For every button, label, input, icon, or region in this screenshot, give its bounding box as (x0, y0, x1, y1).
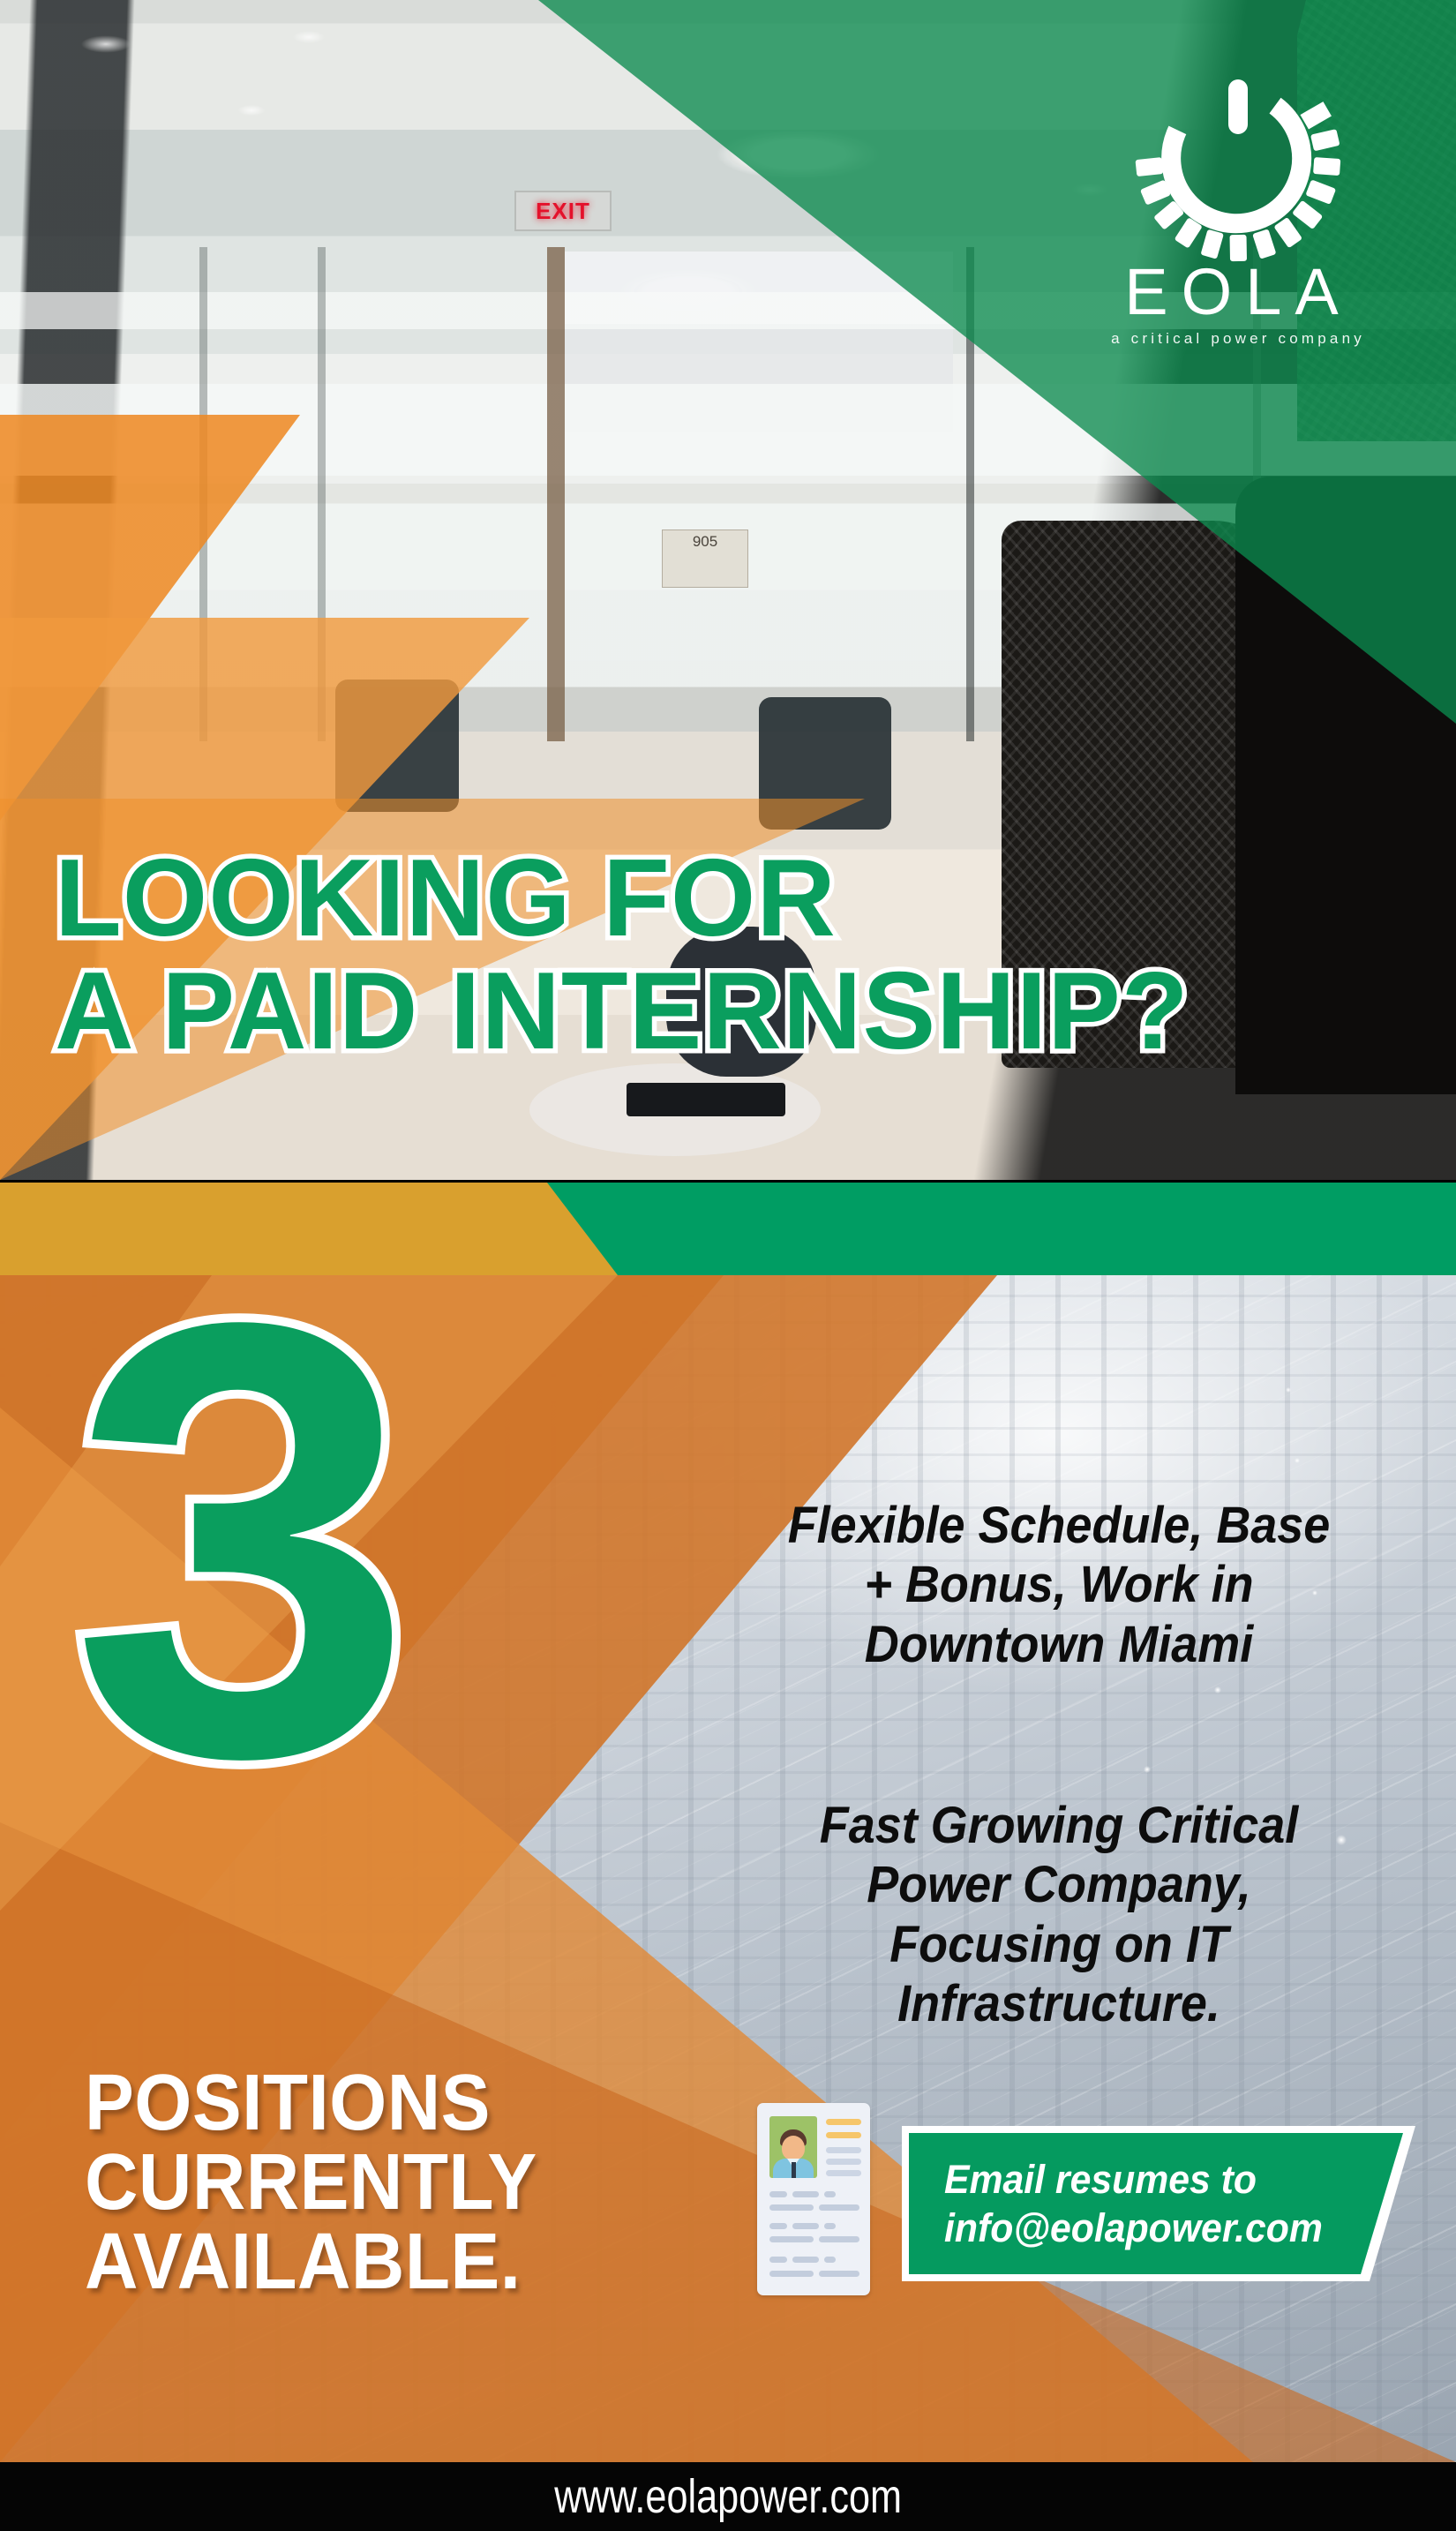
door-frame (547, 247, 565, 741)
avatar (769, 2116, 817, 2178)
avatar-head (782, 2136, 805, 2160)
positions-line-3: AVAILABLE. (85, 2222, 610, 2302)
email-cta-line-1: Email resumes to (944, 2156, 1330, 2204)
resume-text-line (819, 2271, 859, 2277)
resume-text-line (824, 2191, 836, 2197)
resume-text-line (792, 2223, 819, 2229)
footer-bar: www.eolapower.com (0, 2462, 1456, 2531)
coffee-table (529, 1063, 821, 1156)
resume-text-line (824, 2257, 836, 2263)
resume-text-line (819, 2204, 859, 2211)
resume-card-icon (757, 2103, 870, 2295)
resume-heading-line (826, 2132, 861, 2138)
benefits-block-1: Flexible Schedule, Base + Bonus, Work in… (780, 1496, 1338, 1674)
resume-text-line (769, 2191, 787, 2197)
avatar-tie (792, 2162, 796, 2178)
eola-logo: EOLA a critical power company (1075, 55, 1401, 346)
resume-text-line (769, 2257, 787, 2263)
headline-line-1: LOOKING FOR (55, 837, 837, 959)
positions-line-1: POSITIONS (85, 2063, 610, 2143)
website-url[interactable]: www.eolapower.com (554, 2469, 902, 2524)
positions-line-2: CURRENTLY (85, 2143, 610, 2222)
exit-sign-label: EXIT (536, 198, 590, 225)
positions-count-number: 3 (71, 1231, 414, 1849)
resume-text-line (792, 2257, 819, 2263)
resume-heading-line (826, 2119, 861, 2125)
email-cta-text[interactable]: Email resumes to info@eolapower.com (944, 2156, 1330, 2253)
headline-line-2: A PAID INTERNSHIP? (55, 956, 1414, 1069)
resume-text-line (769, 2204, 814, 2211)
benefits-block-2: Fast Growing Critical Power Company, Foc… (780, 1796, 1338, 2033)
door-number-plate (662, 529, 748, 588)
resume-text-line (769, 2271, 814, 2277)
resume-text-line (824, 2223, 836, 2229)
email-cta-address[interactable]: info@eolapower.com (944, 2204, 1330, 2253)
logo-tagline: a critical power company (1111, 330, 1365, 348)
resume-text-line (792, 2191, 819, 2197)
logo-wordmark: EOLA (1124, 259, 1351, 325)
resume-text-line (769, 2223, 787, 2229)
resume-text-line (769, 2236, 814, 2242)
internship-poster: EXIT (0, 0, 1456, 2531)
resume-text-line (819, 2236, 859, 2242)
positions-available-label: POSITIONS CURRENTLY AVAILABLE. (85, 2063, 610, 2302)
resume-text-line (826, 2170, 861, 2176)
resume-text-line (826, 2147, 861, 2153)
exit-sign: EXIT (514, 191, 612, 231)
power-button-icon (1134, 55, 1342, 263)
page-headline: LOOKING FOR A PAID INTERNSHIP? (55, 843, 1414, 1068)
resume-text-line (826, 2159, 861, 2165)
